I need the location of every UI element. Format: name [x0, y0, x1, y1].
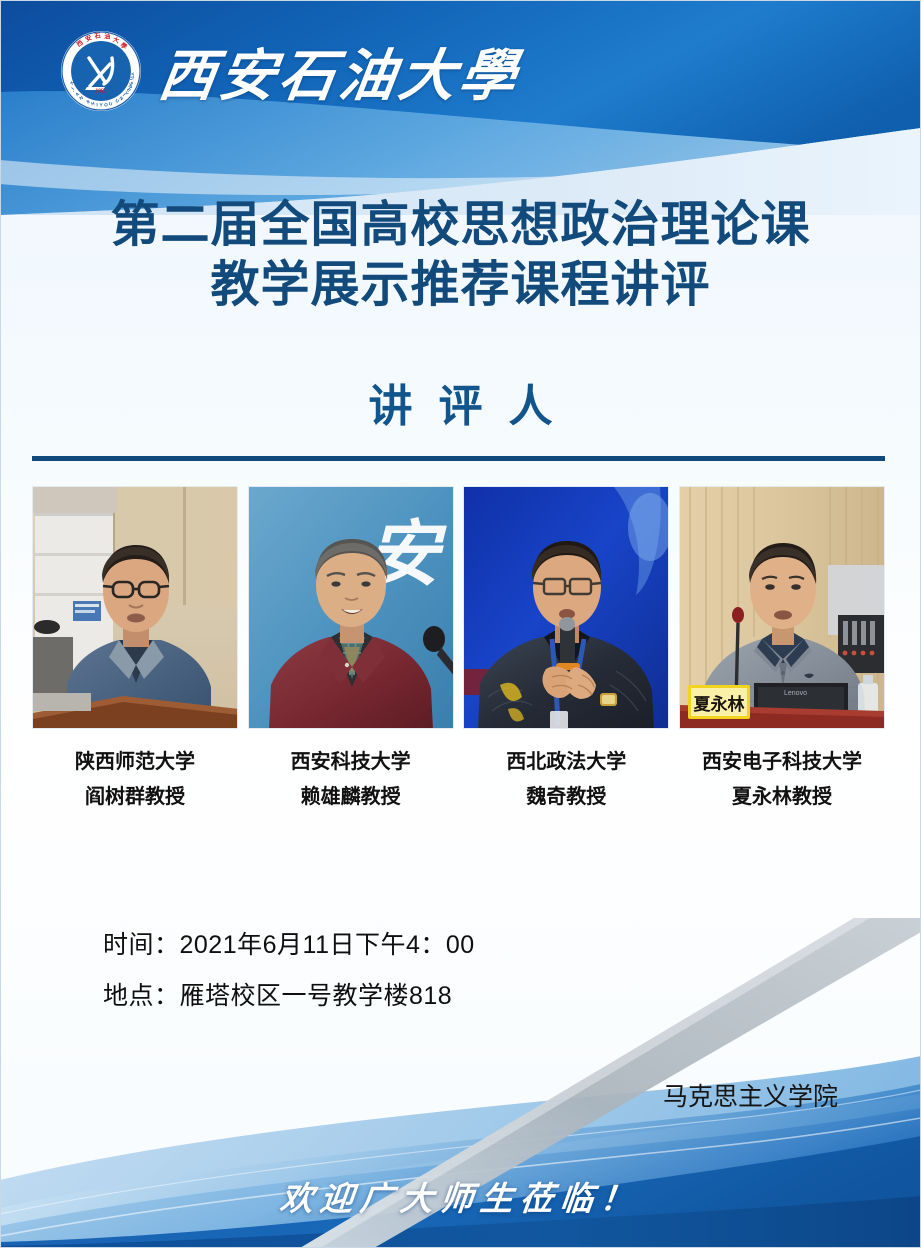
title-line-2: 教学展示推荐课程讲评: [0, 256, 921, 316]
reviewer-photo-lai-xionglin: 安: [248, 486, 454, 729]
affiliation-2: 西安科技大学: [248, 745, 454, 780]
section-subtitle: 讲评人: [0, 370, 921, 434]
svg-text:Y: Y: [99, 102, 103, 107]
event-place: 地点：雁塔校区一号教学楼818: [103, 971, 475, 1022]
reviewer-photo-wei-qi: [463, 486, 669, 729]
svg-text:油: 油: [104, 32, 111, 40]
reviewer-photo-yan-shuqun: [32, 486, 238, 729]
section-divider: [32, 456, 885, 461]
reviewer-name-1: 阎树群教授: [32, 780, 238, 815]
university-name-calligraphy: 西安石油大學: [154, 31, 525, 112]
caption-cell-2: 西安科技大学 赖雄麟教授: [248, 745, 454, 815]
reviewer-name-4: 夏永林教授: [679, 780, 885, 815]
affiliation-3: 西北政法大学: [463, 745, 669, 780]
svg-text:Y: Y: [130, 72, 135, 76]
university-logo-row: 西 安 石 油 大 學 1951: [60, 30, 520, 112]
event-time: 时间：2021年6月11日下午4：00: [103, 920, 475, 971]
reviewer-name-3: 魏奇教授: [463, 780, 669, 815]
poster-header: 西 安 石 油 大 學 1951: [0, 0, 921, 215]
reviewer-name-2: 赖雄麟教授: [248, 780, 454, 815]
university-seal-icon: 西 安 石 油 大 學 1951: [60, 30, 142, 112]
welcome-message: 欢迎广大师生莅临！: [0, 1172, 921, 1220]
svg-text:石: 石: [93, 32, 101, 40]
svg-text:Lenovo: Lenovo: [784, 690, 807, 697]
affiliation-1: 陕西师范大学: [32, 745, 238, 780]
reviewer-photo-strip: 安: [32, 486, 885, 729]
reviewer-captions: 陕西师范大学 阎树群教授 西安科技大学 赖雄麟教授 西北政法大学 魏奇教授 西安…: [32, 745, 885, 815]
svg-text:I: I: [96, 102, 98, 107]
poster-title: 第二届全国高校思想政治理论课 教学展示推荐课程讲评: [0, 196, 921, 316]
reviewer-photo-xia-yonglin: Lenovo 夏永林: [679, 486, 885, 729]
poster-root: 西 安 石 油 大 學 1951: [0, 0, 921, 1248]
title-line-1: 第二届全国高校思想政治理论课: [0, 196, 921, 256]
organizer-name: 马克思主义学院: [0, 1077, 921, 1113]
svg-text:1951: 1951: [95, 89, 106, 95]
caption-cell-1: 陕西师范大学 阎树群教授: [32, 745, 238, 815]
event-info: 时间：2021年6月11日下午4：00 地点：雁塔校区一号教学楼818: [103, 920, 475, 1023]
nameplate-text: 夏永林: [693, 694, 744, 714]
caption-cell-3: 西北政法大学 魏奇教授: [463, 745, 669, 815]
affiliation-4: 西安电子科技大学: [679, 745, 885, 780]
caption-cell-4: 西安电子科技大学 夏永林教授: [679, 745, 885, 815]
